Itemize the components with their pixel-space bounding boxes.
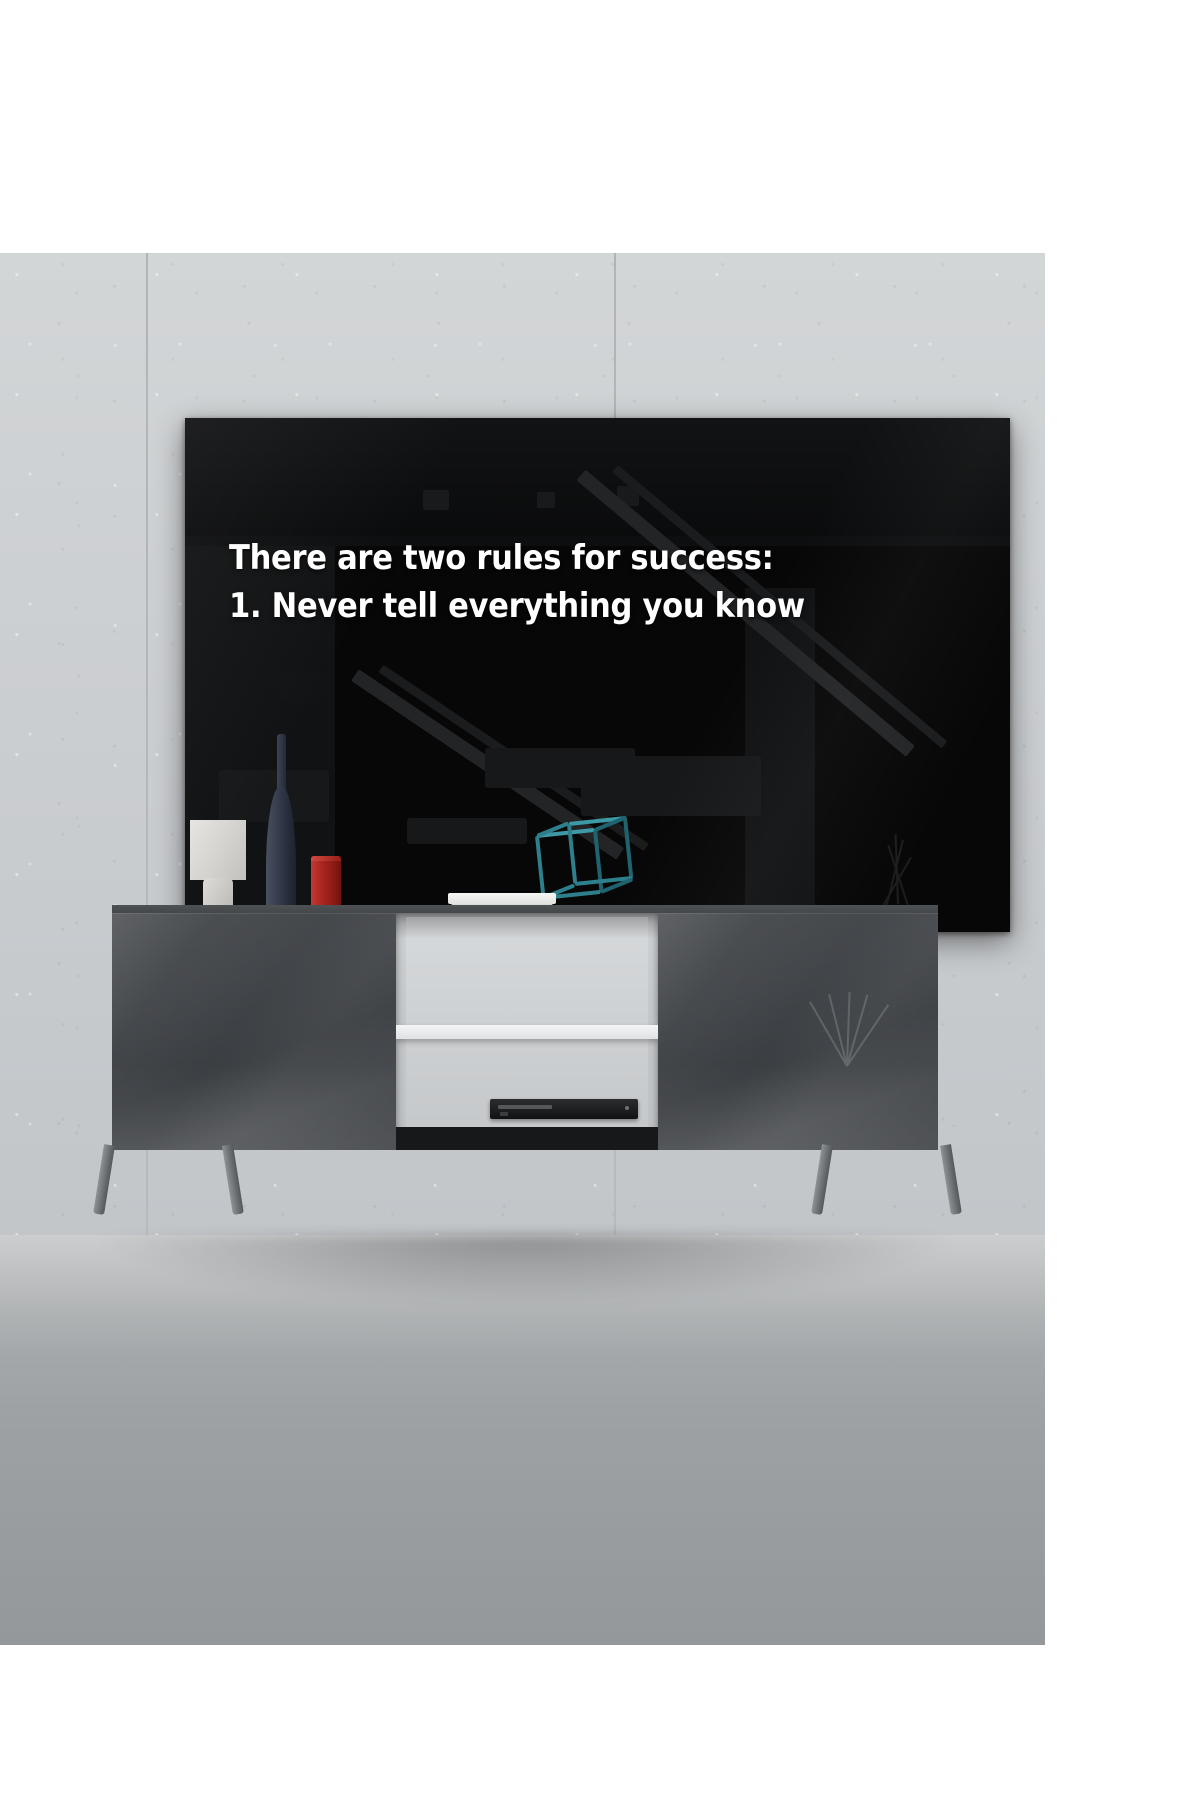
tall-vase bbox=[266, 734, 296, 920]
quote-line-1: There are two rules for success: bbox=[229, 536, 969, 581]
niche-top-shadow bbox=[396, 913, 658, 939]
sideboard-niche-base bbox=[396, 1127, 658, 1150]
vase-body bbox=[266, 786, 296, 920]
artwork-table bbox=[407, 818, 527, 844]
door-floor-reflection-right bbox=[658, 1064, 938, 1150]
door-floor-reflection-left bbox=[112, 1064, 396, 1150]
media-player-display bbox=[500, 1112, 508, 1116]
table-lamp-shade bbox=[190, 820, 246, 880]
plant-reflection bbox=[786, 958, 912, 1066]
sideboard-door-left[interactable] bbox=[112, 913, 396, 1150]
artwork-ceiling-panel-1 bbox=[423, 490, 449, 510]
media-player-led bbox=[625, 1106, 629, 1110]
polished-concrete-floor bbox=[0, 1235, 1045, 1645]
product-scene: There are two rules for success: 1. Neve… bbox=[0, 0, 1045, 1645]
canvas-right-margin bbox=[1045, 0, 1200, 1800]
candle-rim bbox=[311, 856, 341, 861]
media-player[interactable] bbox=[490, 1099, 638, 1119]
cube-edge-2 bbox=[535, 836, 545, 898]
plant-reflection-stem-3 bbox=[828, 994, 848, 1066]
artwork-ceiling bbox=[185, 418, 1010, 538]
book-top bbox=[448, 893, 556, 904]
plant-reflection-stem-4 bbox=[846, 1004, 889, 1066]
quote-line-2: 1. Never tell everything you know bbox=[229, 584, 969, 629]
plant-reflection-stem-5 bbox=[809, 1001, 848, 1066]
canvas-bottom-margin bbox=[0, 1645, 1200, 1800]
artwork-ceiling-panel-3 bbox=[537, 492, 555, 508]
media-player-slot bbox=[498, 1105, 552, 1109]
artwork-quote: There are two rules for success: 1. Neve… bbox=[229, 536, 969, 629]
artwork-sofa-right bbox=[581, 756, 761, 816]
furniture-floor-shadow bbox=[90, 1235, 960, 1305]
sideboard-door-right[interactable] bbox=[658, 913, 938, 1150]
niche-shelf bbox=[396, 1025, 658, 1039]
